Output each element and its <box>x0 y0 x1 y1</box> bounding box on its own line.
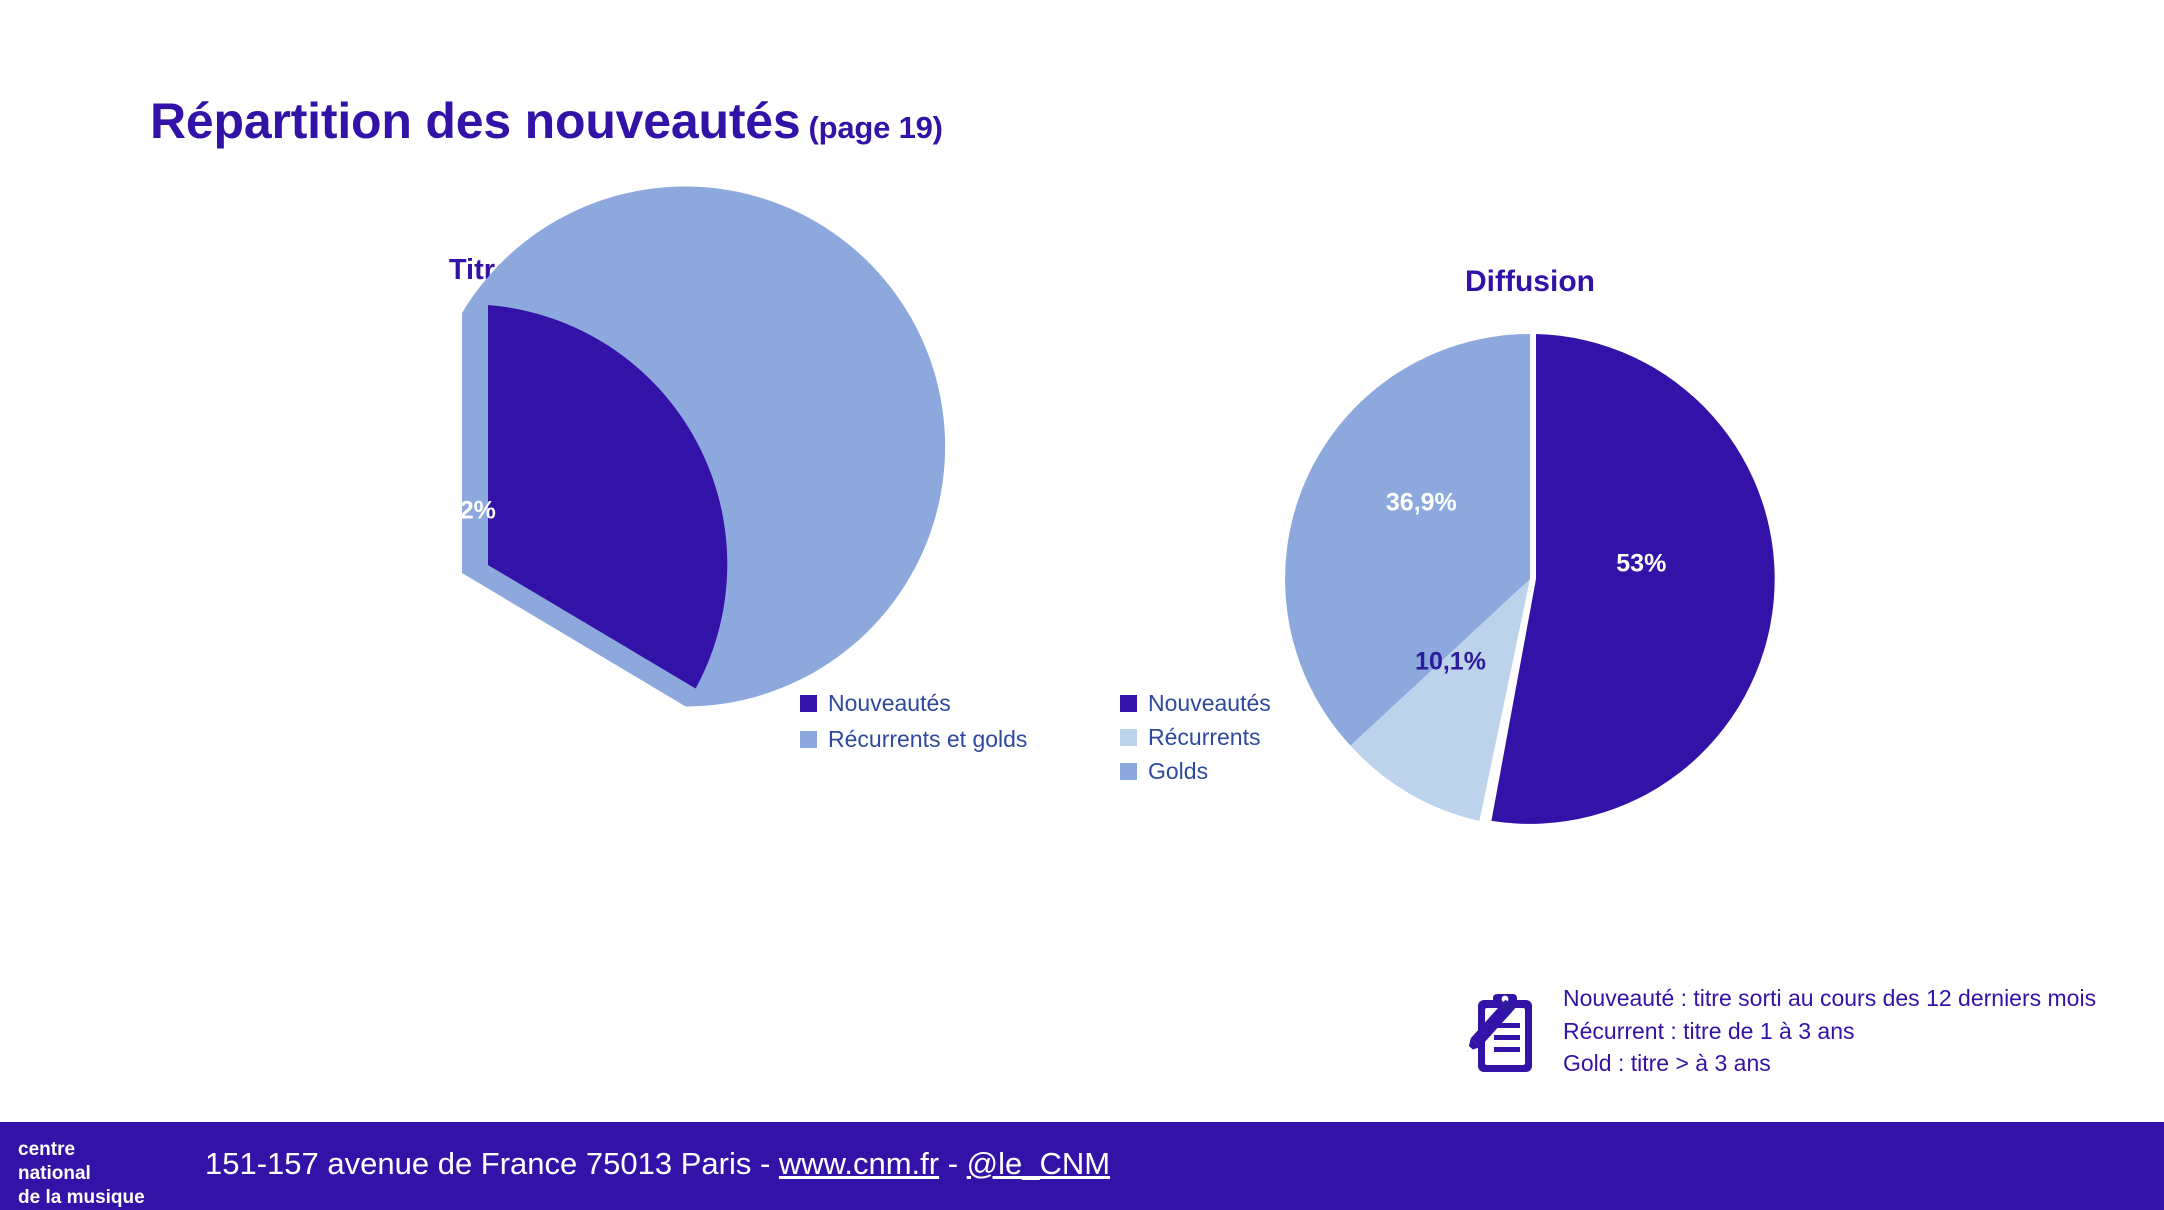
cnm-logo: centre national de la musique <box>18 1138 145 1209</box>
chart-diffusion: Diffusion 53% 36,9% 10,1% <box>1265 265 1795 834</box>
page-reference: (page 19) <box>809 110 943 145</box>
footnote: Nouveauté : titre sorti au cours des 12 … <box>1462 982 2096 1085</box>
legend-label: Nouveautés <box>828 690 951 717</box>
legend-item-nouveautes[interactable]: Nouveautés <box>1120 690 1271 717</box>
cnm-logo-line-1: centre <box>18 1138 145 1162</box>
chart-titre-pie: 35,2% 64,8% <box>200 293 760 853</box>
footnote-line-nouveaute: Nouveauté : titre sorti au cours des 12 … <box>1563 982 2096 1015</box>
footnote-text: Nouveauté : titre sorti au cours des 12 … <box>1563 982 2096 1080</box>
legend-label: Golds <box>1148 758 1208 785</box>
footer-bar: centre national de la musique 151-157 av… <box>0 1122 2164 1210</box>
footer-address: 151-157 avenue de France 75013 Paris - w… <box>205 1146 1110 1182</box>
legend-label: Nouveautés <box>1148 690 1271 717</box>
pie-slice-nouveautes[interactable] <box>1491 334 1774 824</box>
chart-diffusion-heading: Diffusion <box>1265 265 1795 298</box>
footer-separator: - <box>939 1146 967 1181</box>
twitter-handle-link[interactable]: @le_CNM <box>967 1146 1110 1181</box>
legend-swatch-icon <box>1120 695 1137 712</box>
cnm-logo-line-2: national <box>18 1162 145 1186</box>
legend-item-recurrents-et-golds[interactable]: Récurrents et golds <box>800 726 1027 753</box>
legend-item-golds[interactable]: Golds <box>1120 758 1271 785</box>
page-title: Répartition des nouveautés(page 19) <box>150 92 943 150</box>
legend-swatch-icon <box>800 731 817 748</box>
website-link[interactable]: www.cnm.fr <box>779 1146 939 1181</box>
legend-label: Récurrents <box>1148 724 1260 751</box>
footer-address-text: 151-157 avenue de France 75013 Paris - <box>205 1146 779 1181</box>
cnm-logo-line-3: de la musique <box>18 1186 145 1210</box>
legend-swatch-icon <box>1120 729 1137 746</box>
legend-label: Récurrents et golds <box>828 726 1027 753</box>
footnote-line-recurrent: Récurrent : titre de 1 à 3 ans <box>1563 1015 2096 1048</box>
legend-swatch-icon <box>800 695 817 712</box>
legend-item-recurrents[interactable]: Récurrents <box>1120 724 1271 751</box>
legend-item-nouveautes[interactable]: Nouveautés <box>800 690 1027 717</box>
chart-titre: Titre 35,2% 64,8% <box>200 255 760 853</box>
page-title-main: Répartition des nouveautés <box>150 93 801 149</box>
legend-diffusion: Nouveautés Récurrents Golds <box>1120 690 1271 792</box>
legend-titre: Nouveautés Récurrents et golds <box>800 690 1027 762</box>
chart-diffusion-pie: 53% 36,9% 10,1% <box>1265 304 1795 834</box>
clipboard-pencil-icon <box>1462 988 1540 1085</box>
legend-swatch-icon <box>1120 763 1137 780</box>
footnote-line-gold: Gold : titre > à 3 ans <box>1563 1047 2096 1080</box>
